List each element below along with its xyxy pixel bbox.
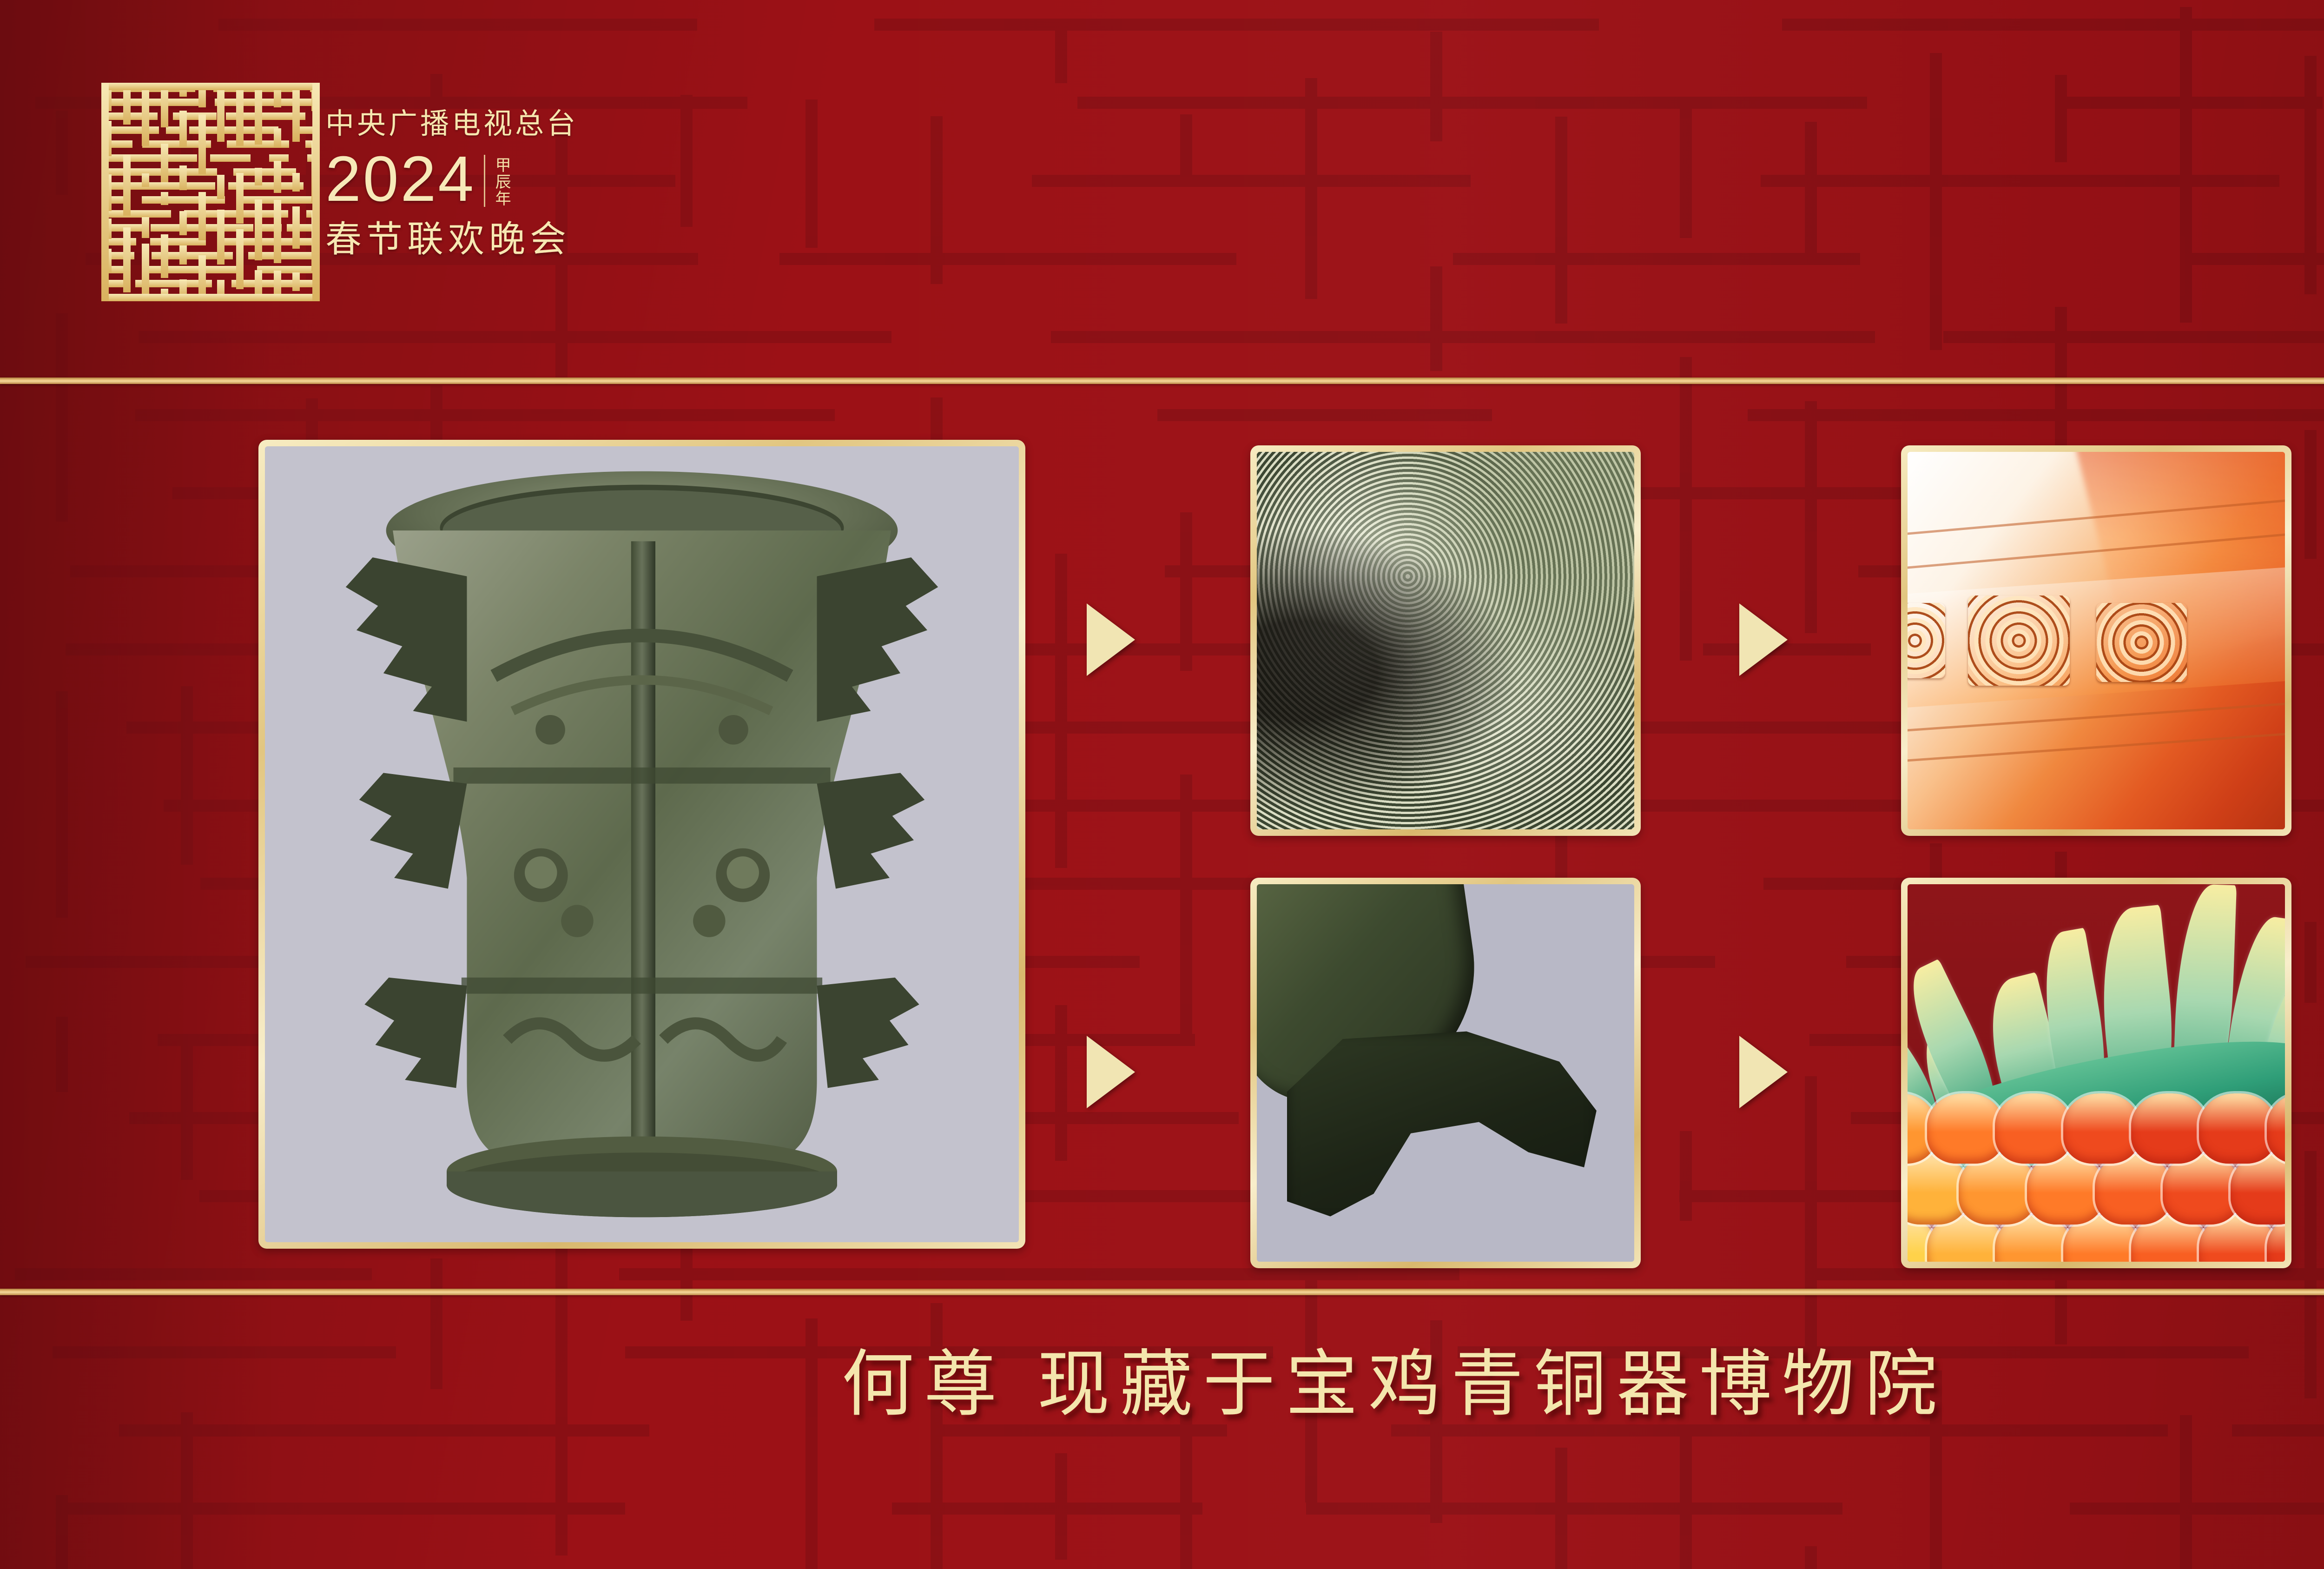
ganzhi-divider xyxy=(484,155,485,207)
dragon-belly-illustration xyxy=(1908,452,2285,829)
leiwen-spiral-icon xyxy=(1908,603,1945,678)
leiwen-spiral-icon xyxy=(1968,596,2070,686)
header-bar: 中央广播电视总台 2024 甲辰年 春节联欢晚会 央 视 新 闻 xyxy=(0,0,2324,380)
dragon-spine-illustration xyxy=(1908,884,2285,1262)
bronze-leiwen-detail-photo xyxy=(1257,452,1634,829)
he-zun-vessel-frame[interactable] xyxy=(258,440,1025,1249)
gala-seal-logo-icon xyxy=(101,83,320,301)
broadcaster-name: 中央广播电视总台 xyxy=(325,110,586,139)
bronze-flange-detail-photo xyxy=(1257,884,1634,1262)
broadcast-graphic-stage: 中央广播电视总台 2024 甲辰年 春节联欢晚会 央 视 新 闻 xyxy=(0,0,2324,1569)
detail-photo-frame-belly[interactable] xyxy=(1250,445,1641,836)
detail-photo-frame-spine[interactable] xyxy=(1250,878,1641,1268)
bronze-vessel-illustration xyxy=(265,446,1019,1242)
illustration-frame-spine[interactable] xyxy=(1901,878,2291,1268)
gala-branding-text: 中央广播电视总台 2024 甲辰年 春节联欢晚会 xyxy=(325,110,586,305)
arrow-right-icon xyxy=(1739,1036,1788,1108)
top-gold-divider xyxy=(0,377,2324,384)
program-name: 春节联欢晚会 xyxy=(325,221,586,257)
belly-contour-line xyxy=(1908,700,2285,734)
belly-contour-line xyxy=(1908,730,2285,764)
arrow-right-icon xyxy=(1739,603,1788,676)
ganzhi-year: 甲辰年 xyxy=(493,157,510,207)
artifact-caption: 何尊 现藏于宝鸡青铜器博物院 xyxy=(0,1348,2324,1421)
arrow-right-icon xyxy=(1087,1036,1135,1108)
illustration-frame-belly[interactable] xyxy=(1901,445,2291,836)
dragon-scale-group xyxy=(1908,1066,2285,1262)
comparison-panel: 龙 腹 龙 脊 xyxy=(0,384,2324,1289)
he-zun-vessel-photo xyxy=(265,446,1019,1242)
gala-year: 2024 xyxy=(325,149,475,210)
leiwen-spiral-icon xyxy=(2096,603,2187,682)
bottom-gold-divider xyxy=(0,1289,2324,1295)
arrow-right-icon xyxy=(1087,603,1135,676)
